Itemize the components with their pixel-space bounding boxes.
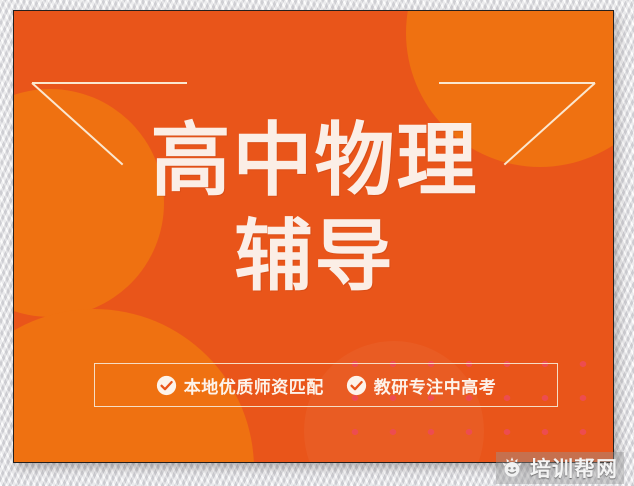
corner-line-top-right-diagonal <box>504 82 596 165</box>
title-line-secondary: 辅导 <box>14 211 614 303</box>
corner-line-top-left-diagonal <box>31 82 123 165</box>
check-circle-icon <box>346 375 367 396</box>
feature-badge-2: 教研专注中高考 <box>346 373 497 398</box>
feature-badge-1-label: 本地优质师资匹配 <box>184 373 324 398</box>
corner-line-top-right-horizontal <box>439 82 595 84</box>
feature-badge-2-label: 教研专注中高考 <box>374 373 497 398</box>
decorative-circle-top-left <box>13 89 164 317</box>
poster-canvas: 高中物理 辅导 本地优质师资匹配 <box>0 0 634 486</box>
feature-badge-box: 本地优质师资匹配 教研专注中高考 <box>94 363 558 407</box>
feature-badge-1: 本地优质师资匹配 <box>156 373 324 398</box>
corner-line-top-left-horizontal <box>32 82 187 84</box>
poster-headline: 高中物理 辅导 <box>14 115 614 303</box>
poster-card: 高中物理 辅导 本地优质师资匹配 <box>13 10 614 463</box>
site-watermark: 培训帮网 <box>496 452 624 484</box>
decorative-circle-top-right <box>406 10 614 167</box>
title-line-primary: 高中物理 <box>14 115 614 207</box>
check-circle-icon <box>156 375 177 396</box>
watermark-label: 培训帮网 <box>530 453 618 483</box>
smiley-sun-icon <box>500 456 524 480</box>
